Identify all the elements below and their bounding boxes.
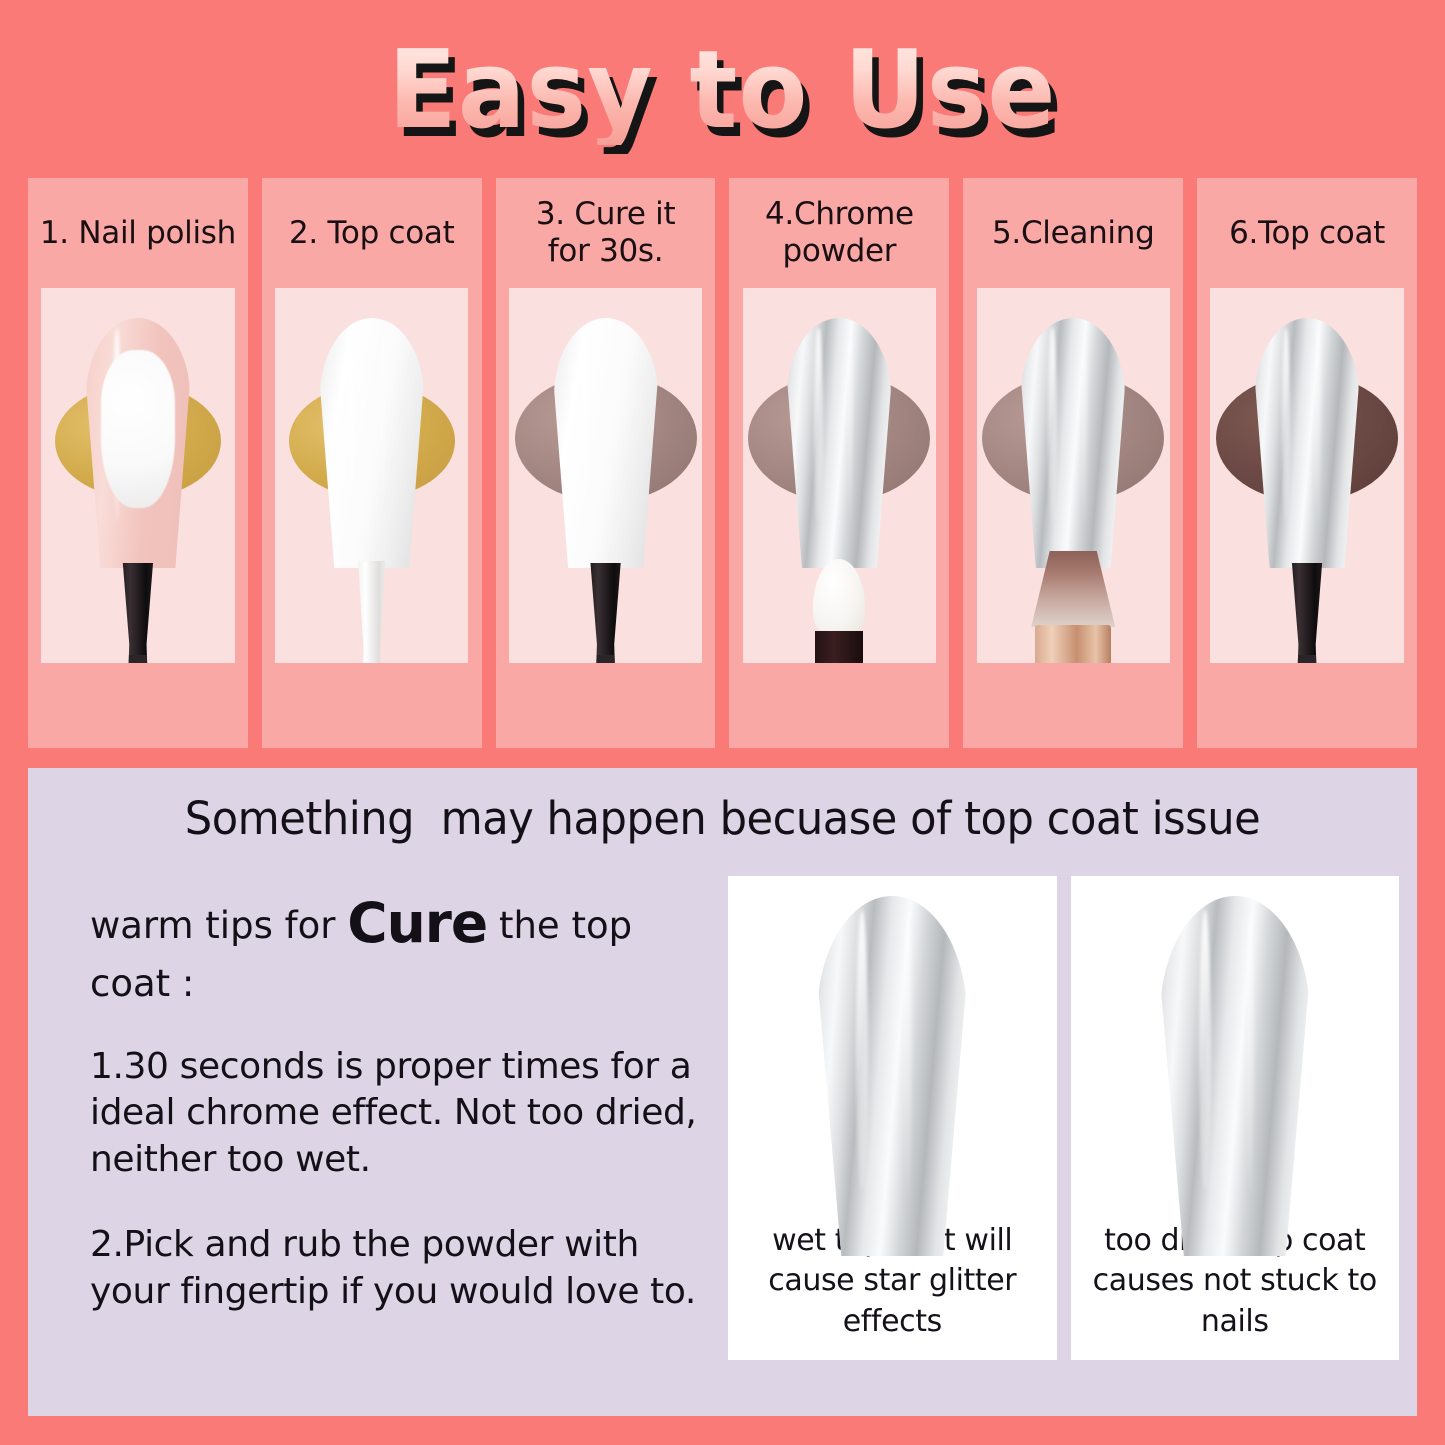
step-photo-4 — [743, 288, 936, 663]
step-photo-6 — [1210, 288, 1403, 663]
applicator-tip — [813, 559, 865, 637]
tip-item-1: 1.30 seconds is proper times for a ideal… — [90, 1044, 700, 1184]
panel-body: warm tips for Cure the top coat : 1.30 s… — [28, 876, 1417, 1416]
nail-polish-brush-icon — [120, 563, 156, 663]
nail-gloss-highlight — [347, 328, 355, 523]
step-card-3[interactable]: 3. Cure it for 30s. — [496, 178, 716, 748]
nail-gloss-highlight-secondary — [1315, 328, 1320, 523]
nail-gloss-highlight — [856, 910, 868, 1191]
chrome-nail-icon — [1255, 318, 1359, 568]
nail-gloss-highlight-secondary — [904, 910, 912, 1191]
example-photo-dry — [1071, 876, 1400, 1221]
chrome-nail-icon — [787, 318, 891, 568]
step-label-1: 1. Nail polish — [28, 178, 248, 288]
step-card-1[interactable]: 1. Nail polish — [28, 178, 248, 748]
nail-gloss-highlight — [1048, 328, 1056, 523]
nail-gloss-highlight-secondary — [1082, 328, 1087, 523]
chrome-nail-wet-icon — [817, 896, 967, 1256]
step-photo-3 — [509, 288, 702, 663]
tip-item-2: 2.Pick and rub the powder with your fing… — [90, 1222, 700, 1316]
chrome-powder-applicator-icon — [809, 559, 869, 663]
final-top-coat-brush-icon — [1289, 563, 1325, 663]
chrome-nail-dry-icon — [1160, 896, 1310, 1256]
nail-gloss-highlight — [814, 328, 822, 523]
steps-strip: 1. Nail polish 2. Top coat 3. Cure it fo… — [28, 178, 1417, 748]
step-card-6[interactable]: 6.Top coat — [1197, 178, 1417, 748]
chrome-nail-icon — [1021, 318, 1125, 568]
example-card-dry[interactable]: too dried top coat causes not stuck to n… — [1071, 876, 1400, 1360]
applicator-handle — [815, 631, 863, 663]
troubleshooting-panel: Something may happen becuase of top coat… — [28, 768, 1417, 1416]
step-card-5[interactable]: 5.Cleaning — [963, 178, 1183, 748]
nail-gloss-highlight-secondary — [1247, 910, 1255, 1191]
white-polish-stroke-icon — [101, 350, 175, 508]
tips-lead: warm tips for Cure the top coat : — [90, 888, 690, 1008]
panel-heading: Something may happen becuase of top coat… — [56, 792, 1389, 845]
step-label-2: 2. Top coat — [262, 178, 482, 288]
nail-gloss-highlight — [1282, 328, 1290, 523]
step-label-3: 3. Cure it for 30s. — [496, 178, 716, 288]
nail-tip-icon — [320, 318, 424, 568]
nail-tip-icon — [554, 318, 658, 568]
tips-lead-before: warm tips for — [90, 904, 347, 947]
step-photo-5 — [977, 288, 1170, 663]
top-coat-brush-icon — [355, 561, 389, 663]
nail-gloss-highlight — [581, 328, 589, 523]
step-photo-2 — [275, 288, 468, 663]
step-label-4: 4.Chrome powder — [729, 178, 949, 288]
page-title: Easy to Use — [388, 37, 1056, 145]
header: Easy to Use — [0, 26, 1445, 156]
step-card-2[interactable]: 2. Top coat — [262, 178, 482, 748]
step-label-6: 6.Top coat — [1197, 178, 1417, 288]
nail-gloss-highlight — [1199, 910, 1211, 1191]
nail-gloss-highlight-secondary — [848, 328, 853, 523]
tips-lead-emphasis: Cure — [347, 891, 487, 955]
examples-column: wet top coat will cause star glitter eff… — [728, 876, 1417, 1416]
cleaning-brush-icon — [1027, 551, 1119, 663]
step-photo-1 — [41, 288, 234, 663]
brush-ferrule — [1035, 625, 1111, 663]
example-card-wet[interactable]: wet top coat will cause star glitter eff… — [728, 876, 1057, 1360]
step-card-4[interactable]: 4.Chrome powder — [729, 178, 949, 748]
nail-gloss-highlight-secondary — [380, 328, 385, 523]
brush-bristles — [1031, 551, 1115, 627]
tips-column: warm tips for Cure the top coat : 1.30 s… — [28, 876, 728, 1416]
example-photo-wet — [728, 876, 1057, 1221]
cured-nail-brush-icon — [588, 563, 624, 663]
step-label-5: 5.Cleaning — [963, 178, 1183, 288]
